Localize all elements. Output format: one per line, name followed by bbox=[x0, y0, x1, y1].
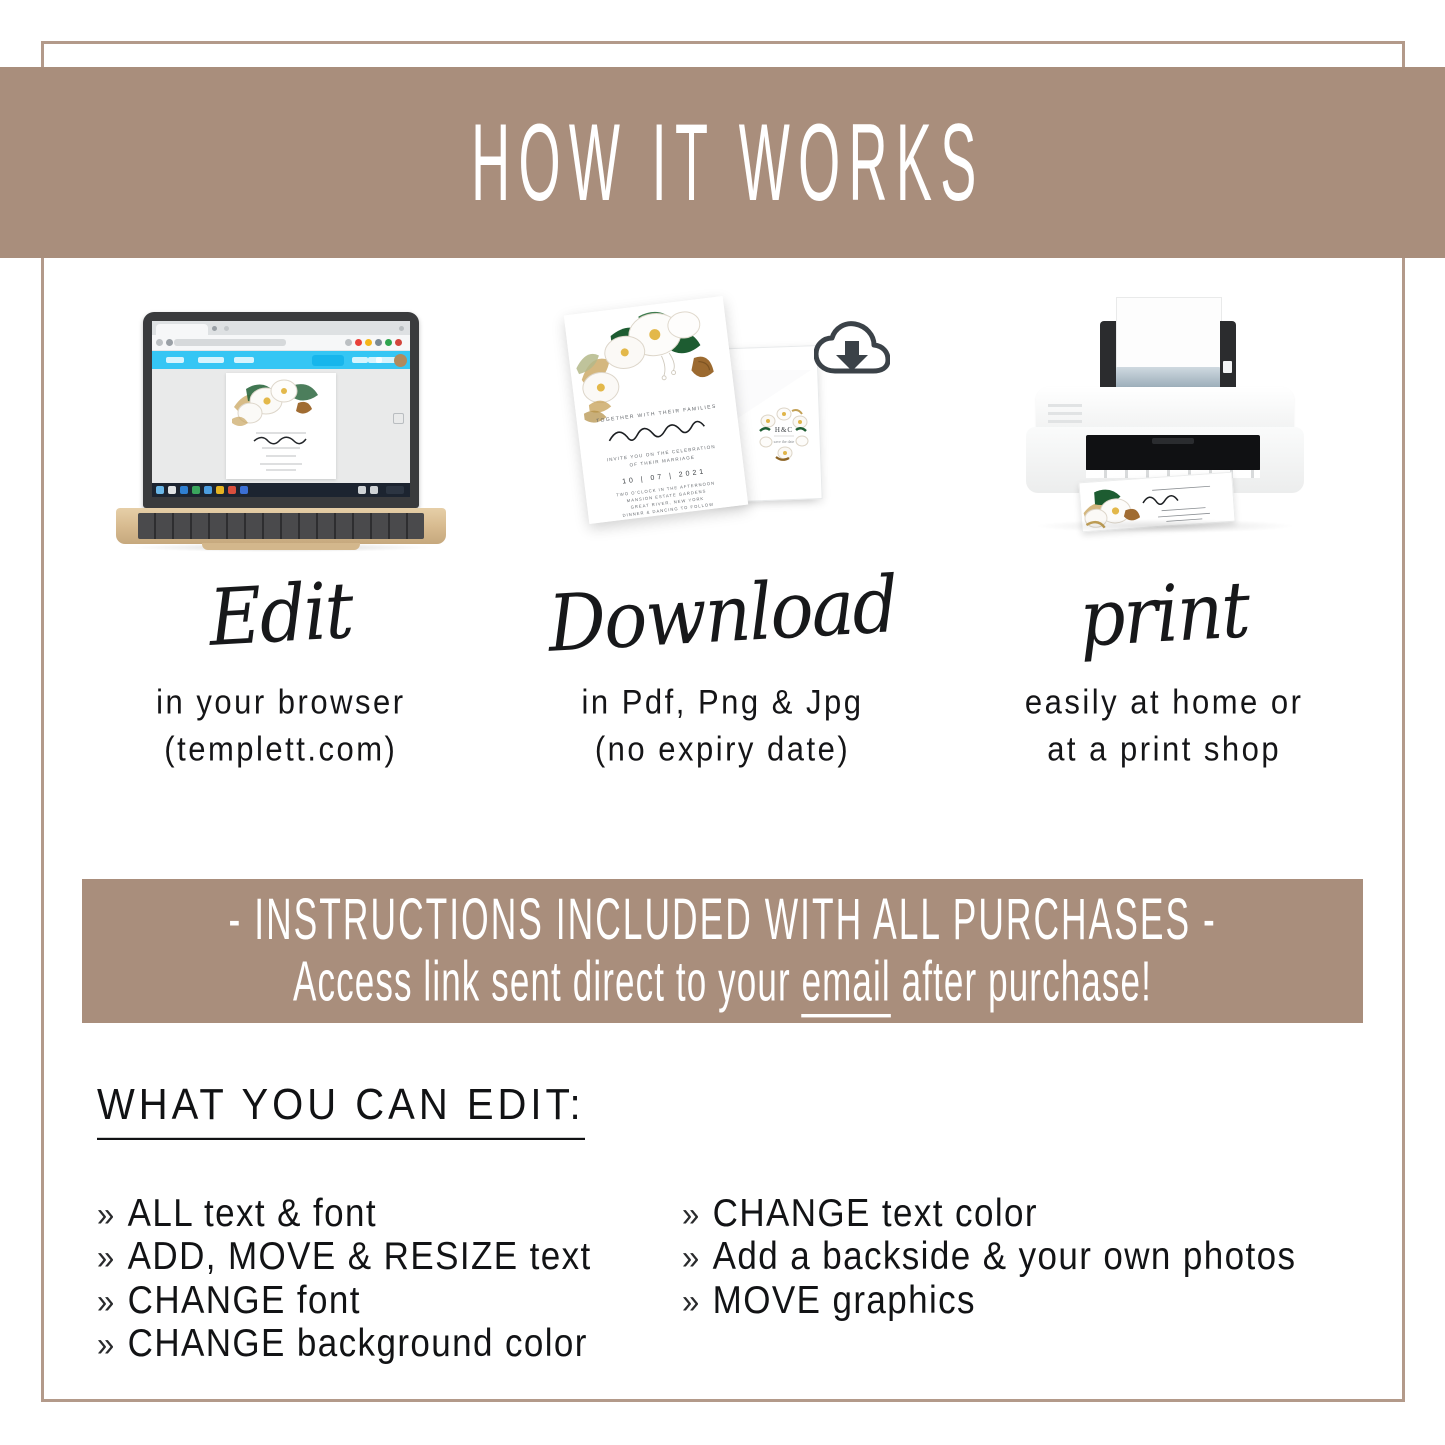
caption-line-1: in Pdf, Png & Jpg bbox=[581, 679, 863, 726]
laptop-base bbox=[116, 508, 446, 544]
steps-row: Edit in your browser (templett.com) bbox=[60, 272, 1385, 812]
bookmark-icon bbox=[345, 339, 352, 346]
browser-tab bbox=[156, 324, 208, 335]
printer-control-panel[interactable] bbox=[1048, 401, 1082, 423]
taskbar-pdf-icon[interactable] bbox=[228, 486, 236, 494]
printer-output-slot bbox=[1086, 435, 1260, 471]
envelope-wreath-monogram: H&C save the date bbox=[754, 405, 814, 463]
invitation-preview[interactable] bbox=[226, 373, 336, 479]
chevron-double-right-icon: » bbox=[682, 1238, 701, 1280]
step-script-label-print: print bbox=[1078, 571, 1251, 659]
step-caption-download: in Pdf, Png & Jpg (no expiry date) bbox=[581, 679, 863, 773]
editor-canvas-area bbox=[152, 369, 410, 483]
layers-panel-icon[interactable] bbox=[393, 413, 404, 424]
printer-device bbox=[994, 287, 1334, 562]
laptop-trackpad-lip bbox=[202, 543, 360, 550]
step-print: print easily at home or at a print shop bbox=[943, 272, 1385, 812]
instructions-subtitle: Access link sent direct to your email af… bbox=[293, 950, 1152, 1013]
caption-line-1: in your browser bbox=[156, 679, 405, 726]
edit-list-right: » CHANGE text color » Add a backside & y… bbox=[682, 1192, 1296, 1366]
caption-line-1: easily at home or bbox=[1025, 679, 1304, 726]
reload-icon bbox=[156, 339, 163, 346]
list-item-label: ADD, MOVE & RESIZE text bbox=[128, 1233, 592, 1281]
taskbar-start-icon[interactable] bbox=[156, 486, 164, 494]
email-link[interactable]: email bbox=[802, 949, 891, 1017]
instructions-banner: - INSTRUCTIONS INCLUDED WITH ALL PURCHAS… bbox=[82, 879, 1363, 1023]
help-button[interactable] bbox=[368, 357, 382, 363]
invitation-card: TOGETHER WITH THEIR FAMILIES INVITE YOU … bbox=[563, 296, 747, 524]
chevron-double-right-icon: » bbox=[682, 1281, 701, 1323]
tab-extra-icon bbox=[224, 326, 229, 331]
taskbar-folder-icon[interactable] bbox=[216, 486, 224, 494]
laptop-lid bbox=[143, 312, 419, 508]
laptop-device bbox=[116, 312, 446, 562]
taskbar-word-icon[interactable] bbox=[240, 486, 248, 494]
taskbar-explorer-icon[interactable] bbox=[180, 486, 188, 494]
instructions-sub-before: Access link sent direct to your bbox=[293, 949, 802, 1013]
edit-list-left: » ALL text & font » ADD, MOVE & RESIZE t… bbox=[97, 1192, 682, 1366]
extension-green-icon bbox=[385, 339, 392, 346]
laptop-keyboard bbox=[138, 513, 424, 539]
list-item-label: CHANGE background color bbox=[128, 1320, 588, 1368]
step-script-label-edit: Edit bbox=[208, 572, 354, 658]
what-you-can-edit-section: WHAT YOU CAN EDIT: » ALL text & font » A… bbox=[97, 1086, 1387, 1366]
list-item: » CHANGE background color bbox=[97, 1320, 682, 1368]
laptop-illustration bbox=[60, 272, 502, 562]
extension-yellow-icon bbox=[365, 339, 372, 346]
menu-help bbox=[234, 357, 254, 363]
caption-line-2: (templett.com) bbox=[156, 726, 405, 773]
step-caption-print: easily at home or at a print shop bbox=[1025, 679, 1304, 773]
svg-text:H&C: H&C bbox=[774, 426, 792, 434]
save-button[interactable] bbox=[352, 357, 368, 363]
step-download: H&C save the date bbox=[502, 272, 944, 812]
chevron-double-right-icon: » bbox=[97, 1194, 116, 1236]
extension-gray-icon bbox=[375, 339, 382, 346]
list-item-label: ALL text & font bbox=[128, 1190, 377, 1238]
taskbar-search-icon[interactable] bbox=[168, 486, 176, 494]
chevron-double-right-icon: » bbox=[97, 1238, 116, 1280]
taskbar-wifi-icon[interactable] bbox=[358, 486, 366, 494]
browser-url-bar bbox=[152, 335, 410, 351]
taskbar-volume-icon[interactable] bbox=[370, 486, 378, 494]
chevron-double-right-icon: » bbox=[682, 1194, 701, 1236]
invitation-card-artwork: TOGETHER WITH THEIR FAMILIES INVITE YOU … bbox=[563, 296, 747, 524]
taskbar-mail-icon[interactable] bbox=[192, 486, 200, 494]
laptop-screen bbox=[152, 321, 410, 497]
menu-file bbox=[166, 357, 184, 363]
chevron-double-right-icon: » bbox=[97, 1324, 116, 1366]
printer-shadow bbox=[1034, 519, 1296, 533]
invitation-illustration: H&C save the date bbox=[502, 272, 944, 562]
edit-columns: » ALL text & font » ADD, MOVE & RESIZE t… bbox=[97, 1192, 1387, 1366]
new-tab-icon bbox=[212, 326, 217, 331]
taskbar-store-icon[interactable] bbox=[204, 486, 212, 494]
invitation-artwork bbox=[226, 373, 336, 479]
download-button[interactable] bbox=[312, 355, 344, 366]
avatar[interactable] bbox=[394, 354, 407, 367]
edit-section-heading: WHAT YOU CAN EDIT: bbox=[97, 1081, 585, 1140]
instructions-title: - INSTRUCTIONS INCLUDED WITH ALL PURCHAS… bbox=[228, 890, 1216, 951]
instructions-sub-after: after purchase! bbox=[891, 949, 1152, 1013]
list-item: » Add a backside & your own photos bbox=[682, 1233, 1296, 1281]
browser-tab-bar bbox=[152, 321, 410, 335]
header-banner: HOW IT WORKS bbox=[0, 67, 1445, 258]
list-item-label: MOVE graphics bbox=[713, 1277, 976, 1325]
list-item: » CHANGE font bbox=[97, 1277, 682, 1325]
os-taskbar bbox=[152, 483, 410, 497]
list-item: » ADD, MOVE & RESIZE text bbox=[97, 1233, 682, 1281]
lock-icon bbox=[166, 339, 173, 346]
caption-line-2: (no expiry date) bbox=[581, 726, 863, 773]
browser-url-text bbox=[174, 339, 286, 346]
window-close-icon bbox=[399, 326, 404, 331]
step-edit: Edit in your browser (templett.com) bbox=[60, 272, 502, 812]
list-item: » ALL text & font bbox=[97, 1190, 682, 1238]
step-caption-edit: in your browser (templett.com) bbox=[156, 679, 405, 773]
caption-line-2: at a print shop bbox=[1025, 726, 1304, 773]
chevron-double-right-icon: » bbox=[97, 1281, 116, 1323]
list-item: » MOVE graphics bbox=[682, 1277, 1296, 1325]
svg-text:save the date: save the date bbox=[773, 439, 794, 444]
page-title: HOW IT WORKS bbox=[461, 108, 985, 217]
printer-illustration bbox=[943, 272, 1385, 562]
download-cloud-icon bbox=[814, 321, 890, 379]
step-script-label-download: Download bbox=[547, 566, 899, 664]
taskbar-clock bbox=[386, 486, 404, 494]
list-item-label: Add a backside & your own photos bbox=[713, 1233, 1297, 1281]
menu-edit bbox=[198, 357, 224, 363]
list-item-label: CHANGE font bbox=[128, 1277, 361, 1325]
editor-toolbar bbox=[152, 351, 410, 370]
list-item: » CHANGE text color bbox=[682, 1190, 1296, 1238]
extension-red-icon bbox=[355, 339, 362, 346]
list-item-label: CHANGE text color bbox=[713, 1190, 1038, 1238]
profile-icon bbox=[395, 339, 402, 346]
invitation-set: H&C save the date bbox=[558, 297, 888, 562]
